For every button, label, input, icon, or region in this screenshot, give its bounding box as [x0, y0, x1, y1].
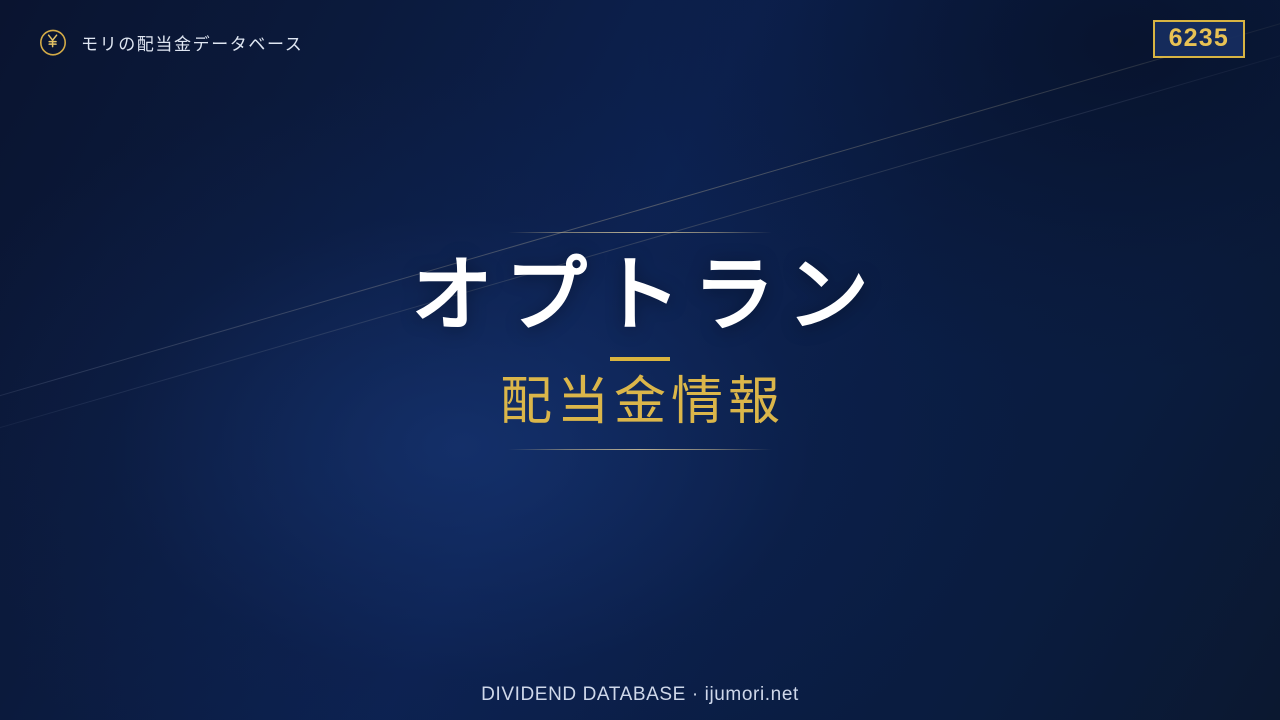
brand-name-label: モリの配当金データベース: [81, 30, 303, 55]
divider-bottom: [508, 449, 772, 450]
footer-text: DIVIDEND DATABASE · ijumori.net: [0, 684, 1280, 706]
ticker-code-badge: 6235: [1153, 20, 1245, 58]
company-name: オプトラン: [399, 253, 881, 340]
brand-logo[interactable]: モリの配当金データベース: [38, 27, 303, 57]
title-block: オプトラン 配当金情報: [0, 232, 1280, 450]
page-header: モリの配当金データベース 6235: [0, 0, 1280, 90]
divider-top: [508, 232, 772, 233]
title-slide: モリの配当金データベース 6235 オプトラン 配当金情報 DIVIDEND D…: [0, 0, 1280, 720]
yen-circle-icon: [38, 27, 68, 57]
gold-accent-bar: [610, 357, 670, 361]
page-subtitle: 配当金情報: [495, 374, 785, 431]
